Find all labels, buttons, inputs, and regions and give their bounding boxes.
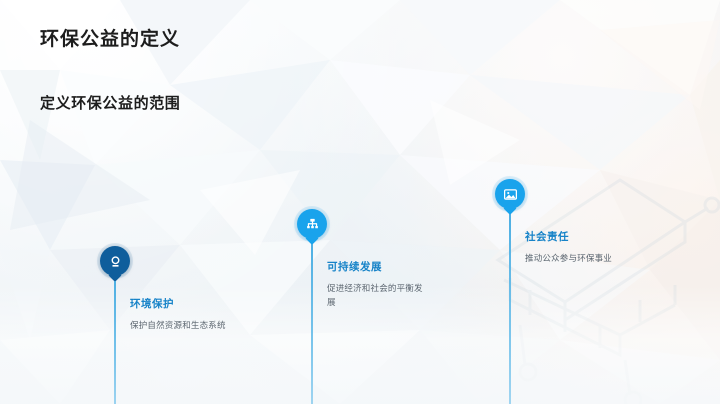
timeline-item-1-body: 环境保护 保护自然资源和生态系统 [130,296,226,332]
slide-canvas: 环保公益的定义 定义环保公益的范围 环境保护 保护自然资源和生态系统 [0,0,720,404]
timeline-connector-3 [509,205,511,404]
low-poly-background [0,0,720,404]
page-title-block: 环保公益的定义 [40,24,180,51]
timeline-item-3-body: 社会责任 推动公众参与环保事业 [525,229,649,265]
sitemap-hierarchy-icon[interactable] [297,209,327,239]
location-pin-circle-icon[interactable] [100,246,130,276]
timeline-item-3-description: 推动公众参与环保事业 [525,251,649,265]
page-subtitle: 定义环保公益的范围 [40,92,180,113]
timeline-connector-2 [311,235,313,404]
timeline-item-2-body: 可持续发展 促进经济和社会的平衡发展 [327,259,423,309]
timeline-item-1-heading: 环境保护 [130,296,226,311]
picture-image-icon[interactable] [495,179,525,209]
timeline-item-2-description: 促进经济和社会的平衡发展 [327,281,423,309]
timeline-item-1-description: 保护自然资源和生态系统 [130,318,226,332]
timeline-connector-1 [114,272,116,404]
timeline-item-2-heading: 可持续发展 [327,259,423,274]
timeline-item-3-heading: 社会责任 [525,229,649,244]
page-title: 环保公益的定义 [40,24,180,51]
